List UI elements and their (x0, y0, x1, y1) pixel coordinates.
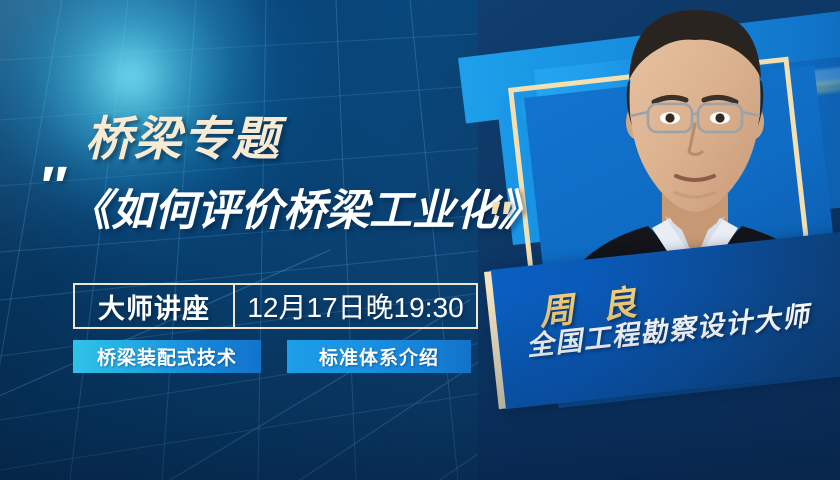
lecture-info-box: 大师讲座 12月17日晚19:30 (73, 283, 478, 329)
quote-close-mark: ″ (487, 196, 510, 244)
page-subtitle: 《如何评价桥梁工业化》 (68, 176, 541, 238)
topic-tag-list: 桥梁装配式技术 标准体系介绍 (73, 340, 471, 373)
lecture-datetime-cell: 12月17日晚19:30 (235, 285, 476, 327)
speaker-stage: 周 良 全国工程勘察设计大师 (478, 0, 840, 480)
lecture-label: 大师讲座 (98, 287, 210, 326)
page-title: 桥梁专题 (85, 100, 281, 169)
topic-tag-1: 桥梁装配式技术 (73, 340, 261, 373)
lecture-label-cell: 大师讲座 (75, 285, 235, 327)
lecture-datetime: 12月17日晚19:30 (247, 286, 463, 326)
quote-open-mark: ″ (38, 158, 65, 214)
topic-tag-2: 标准体系介绍 (287, 340, 471, 373)
poster-canvas: 周 良 全国工程勘察设计大师 桥梁专题 ″ 《如何评价桥梁工业化》 ″ 大师讲座… (0, 0, 840, 480)
